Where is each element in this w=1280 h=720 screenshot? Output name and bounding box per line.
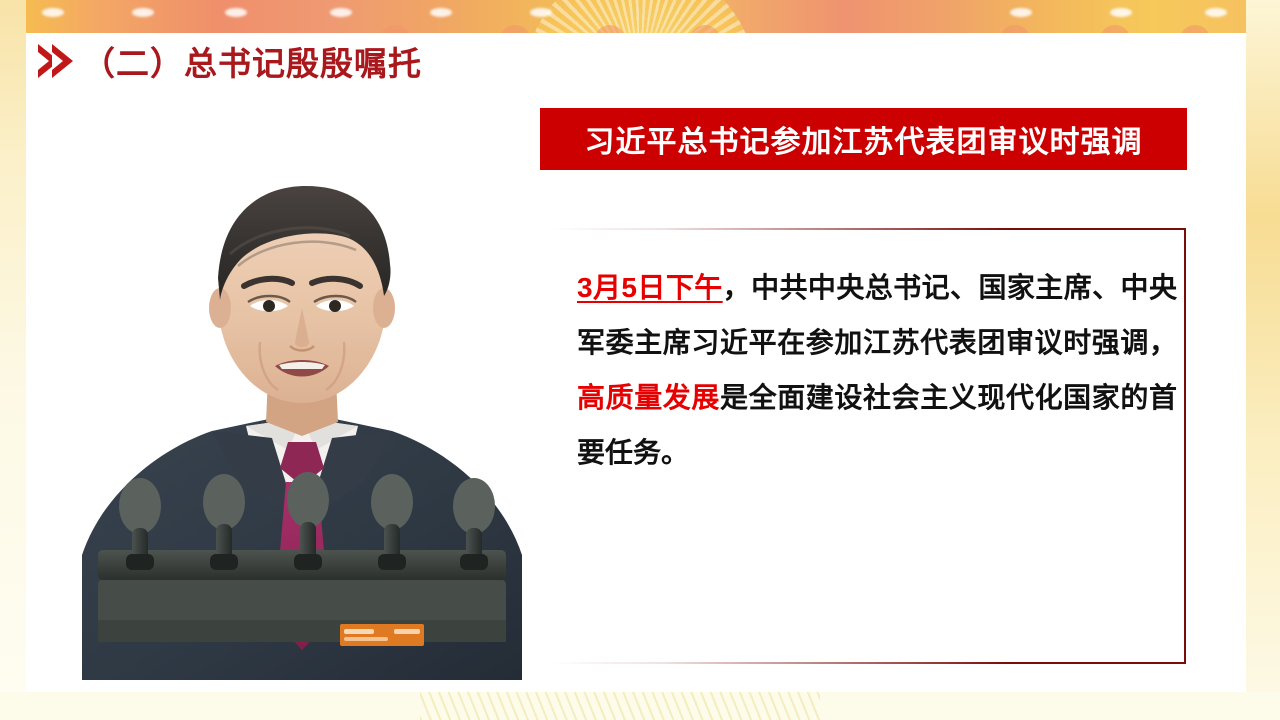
banner-title: 习近平总书记参加江苏代表团审议时强调 — [585, 117, 1143, 161]
page-title: （二）总书记殷殷嘱托 — [82, 37, 422, 85]
slide-header: （二）总书记殷殷嘱托 — [38, 37, 422, 85]
top-decorative-band — [0, 0, 1280, 33]
card-top-border — [549, 228, 1186, 230]
speaker-at-podium-illustration — [62, 150, 542, 680]
bottom-decorative-strip — [0, 692, 1280, 720]
card-right-border — [1184, 228, 1186, 664]
body-content-card: 3月5日下午，中共中央总书记、国家主席、中央军委主席习近平在参加江苏代表团审议时… — [549, 228, 1186, 664]
red-banner: 习近平总书记参加江苏代表团审议时强调 — [540, 108, 1187, 170]
left-decorative-strip — [0, 0, 26, 720]
top-band-dots — [0, 0, 1280, 33]
speaker-photo — [62, 150, 542, 680]
body-segment-highlight: 高质量发展 — [577, 382, 720, 413]
right-decorative-strip — [1246, 0, 1280, 720]
double-chevron-right-icon — [38, 44, 66, 78]
slide-canvas: （二）总书记殷殷嘱托 — [0, 0, 1280, 720]
body-paragraph: 3月5日下午，中共中央总书记、国家主席、中央军委主席习近平在参加江苏代表团审议时… — [577, 260, 1177, 480]
bottom-hatch-pattern — [420, 692, 820, 720]
card-bottom-border — [549, 662, 1186, 664]
body-segment-date: 3月5日下午 — [577, 272, 723, 303]
